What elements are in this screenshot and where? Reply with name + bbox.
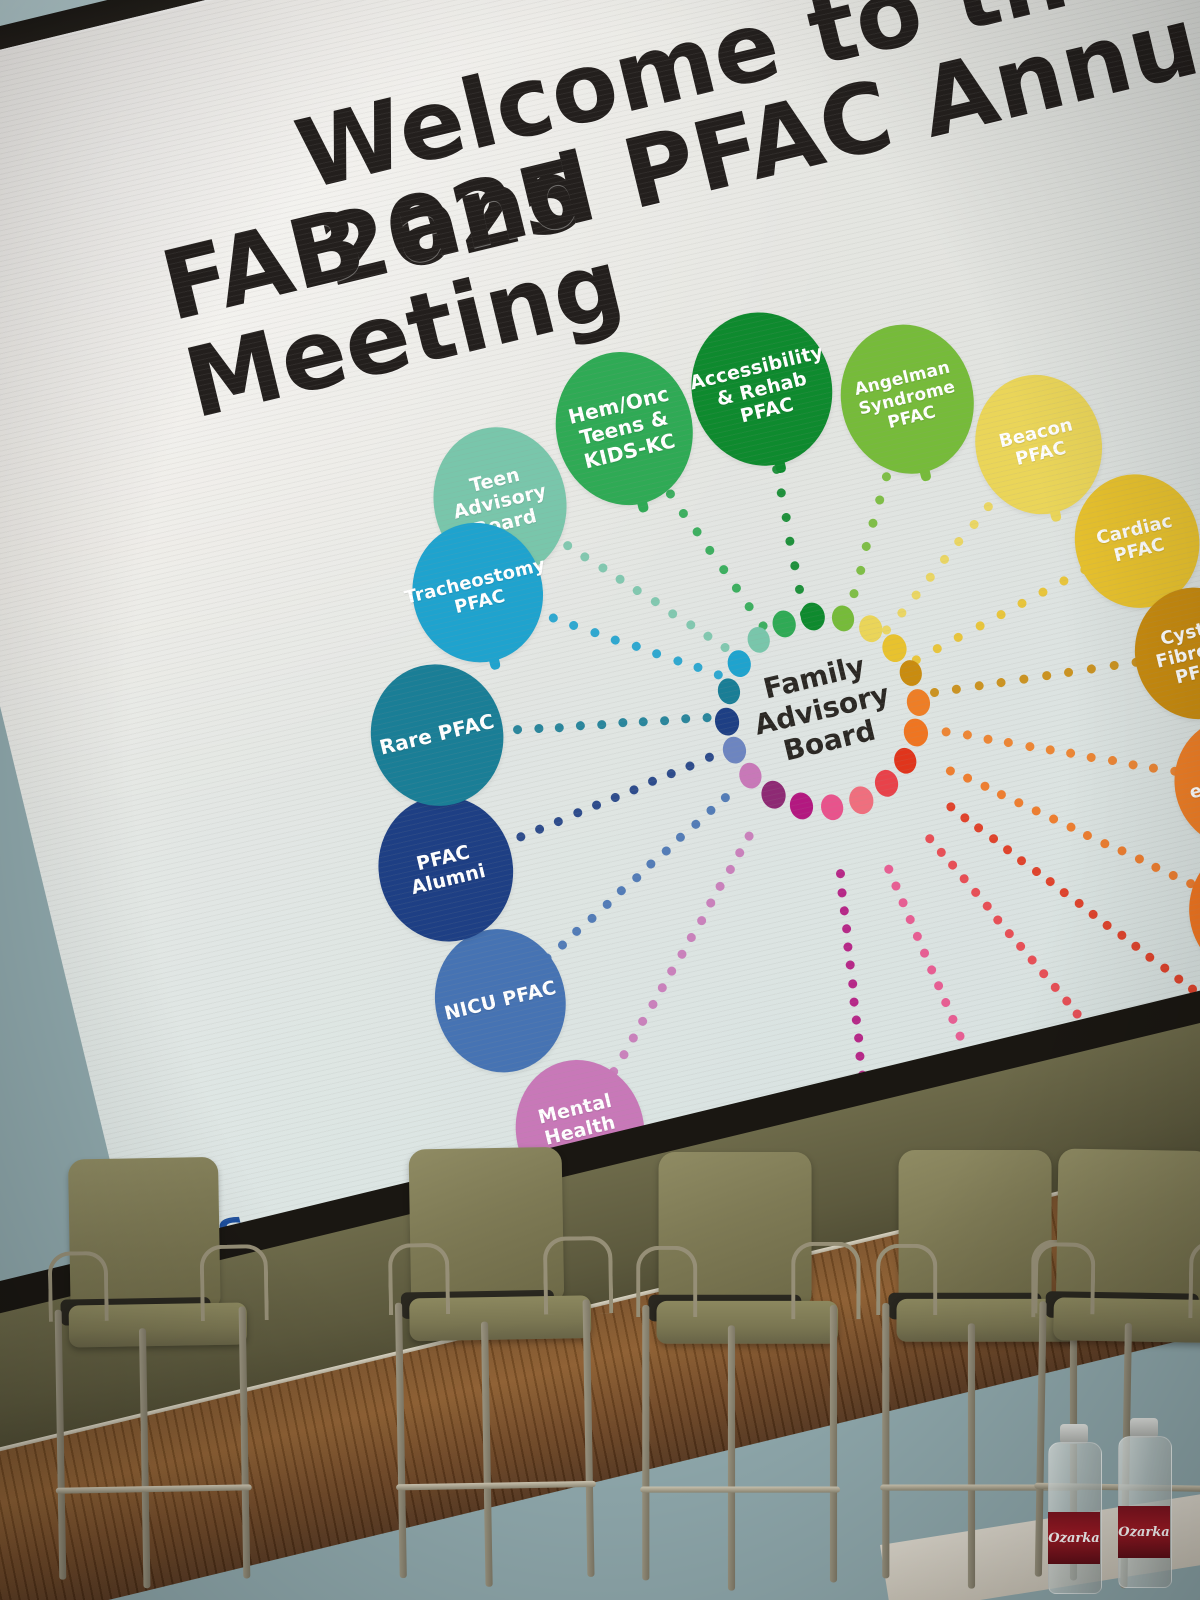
chair[interactable] [380,1146,622,1599]
council-bubble-label: PFAC Alumni [379,833,512,905]
connector-dot [705,898,716,909]
connector-dot [647,999,658,1010]
connector-dot [1145,952,1156,963]
connector-dot [962,773,973,784]
connector-dot [631,641,642,652]
connector-dot [575,720,586,731]
connector-dot [1130,941,1141,952]
connector-dot [610,634,621,645]
connector-dot [597,563,608,574]
chair-armrest-right [791,1242,860,1320]
connector-dot [676,948,687,959]
connector-dot [1058,575,1069,586]
connector-dot [1045,876,1056,887]
connector-dot [516,832,527,843]
connector-dot [731,583,742,594]
connector-dot [835,869,846,880]
connector-dot [638,716,649,727]
connector-dot [569,620,580,631]
balloon-tail-icon [919,468,932,482]
connector-dot [785,536,796,547]
connector-dot [951,684,962,695]
chair-leg [481,1322,493,1587]
council-bubble-label: Hem/Onc Teens & KIDS-KC [554,380,695,478]
connector-dot [1048,814,1059,825]
chair-leg [139,1328,151,1588]
connector-dot [685,619,696,630]
connector-dot [982,734,993,745]
connector-dot [534,824,545,835]
council-bubble[interactable]: Angelman Syndrome PFAC [825,311,989,488]
connector-dot [1030,866,1041,877]
council-bubble-label: Beacon PFAC [976,410,1101,478]
connector-dot [789,560,800,571]
connector-dot [1049,982,1060,993]
bottle-label: Ozarka [1048,1512,1100,1564]
connector-dot [557,939,568,950]
connector-dot [1086,752,1097,763]
council-bubble[interactable]: Rare PFAC [356,651,518,820]
council-bubble[interactable]: e-Council [1161,705,1200,861]
connector-dot [696,915,707,926]
connector-dot [678,508,689,519]
connector-dot [974,681,985,692]
chair-armrest-right [543,1236,614,1315]
connector-dot [1065,748,1076,759]
connector-dot [720,642,731,653]
connector-dot [947,860,958,871]
connector-dot [512,724,523,735]
connector-dot [1128,759,1139,770]
chair-leg [642,1305,649,1580]
connector-dot [661,845,672,856]
connector-dot [548,613,559,624]
council-bubble-label: Angelman Syndrome PFAC [840,356,974,443]
hub-ring-dot [770,608,799,640]
connector-dot [1061,995,1072,1006]
connector-dot [601,899,612,910]
conference-room-photo: Welcome to the 2025 FAB and PFAC Annual … [0,0,1200,1600]
connector-dot [1102,919,1113,930]
chair-leg [239,1306,251,1578]
connector-dot [932,643,943,654]
connector-dot [1108,660,1119,671]
connector-dot [646,859,657,870]
connector-dot [553,816,564,827]
connector-dot [579,551,590,562]
connector-dot [1019,674,1030,685]
council-bubble[interactable]: Eating Disorders Center PFAC [1176,833,1200,990]
connector-dot [794,584,805,595]
chair-leg [583,1299,595,1577]
council-bubble[interactable]: Accessibility & Rehab PFAC [676,298,848,481]
chair-leg [55,1310,67,1580]
connector-dot [945,801,956,812]
chair-leg [395,1303,407,1578]
connector-dot [912,931,923,942]
connector-dot [562,540,573,551]
connector-dot [631,872,642,883]
connector-dot [849,588,860,599]
connector-dot [685,760,696,771]
chair-armrest-right [200,1244,269,1321]
connector-dot [839,905,850,916]
connector-dot [715,881,726,892]
connector-dot [533,723,544,734]
connector-dot [959,874,970,885]
connector-dot [1168,870,1179,881]
connector-dot [1045,744,1056,755]
hub-ring-dot [798,600,828,633]
connector-dot [610,792,621,803]
bottle-cap [1060,1424,1088,1444]
connector-dot [874,495,885,506]
chair-foot-rail [396,1481,596,1491]
connector-dot [929,688,940,699]
chair-foot-rail [56,1484,252,1493]
connector-dot [853,1033,864,1044]
connector-dot [734,848,745,859]
connector-dot [1116,930,1127,941]
connector-dot [1016,598,1027,609]
connector-dot [1116,846,1127,857]
connector-dot [680,713,691,724]
connector-dot [1065,822,1076,833]
connector-dot [586,913,597,924]
connector-dot [650,597,661,608]
connector-dot [596,719,607,730]
connector-dot [925,572,936,583]
connector-dot [725,864,736,875]
connector-dot [616,886,627,897]
connector-dot [1038,968,1049,979]
connector-dot [941,726,952,737]
connector-dot [1031,805,1042,816]
connector-dot [1016,855,1027,866]
connector-dot [849,996,860,1007]
connector-dot [589,627,600,638]
connector-dot [615,574,626,585]
connector-dot [837,887,848,898]
connector-dot [1003,737,1014,748]
connector-dot [891,880,902,891]
chair-leg [968,1323,975,1588]
hub-ring-dot [787,790,816,822]
connector-dot [1014,797,1025,808]
connector-dot [657,982,668,993]
chair[interactable] [40,1156,278,1600]
connector-dot [651,648,662,659]
connector-dot [884,864,895,875]
connector-dot [868,518,879,529]
council-bubble-label: Accessibility & Rehab PFAC [688,341,836,437]
connector-dot [1082,830,1093,841]
connector-dot [720,792,731,803]
connector-dot [1002,844,1013,855]
connector-dot [968,519,979,530]
chair-leg [1035,1301,1047,1576]
hub-ring-dot [818,792,845,822]
connector-dot [861,541,872,552]
connector-dot [667,965,678,976]
connector-dot [1027,955,1038,966]
connector-dot [1004,928,1015,939]
connector-dot [973,823,984,834]
connector-dot [953,631,964,642]
connector-dot [996,677,1007,688]
connector-dot [855,565,866,576]
connector-dot [632,585,643,596]
connector-dot [924,833,935,844]
connector-dot [776,488,787,499]
connector-dot [572,926,583,937]
connector-dot [983,501,994,512]
council-bubble-label: NICU PFAC [442,977,558,1025]
connector-dot [690,819,701,830]
connector-dot [954,536,965,547]
connector-dot [898,897,909,908]
connector-dot [718,564,729,575]
connector-dot [896,607,907,618]
connector-dot [672,655,683,666]
connector-dot [988,833,999,844]
connector-dot [1086,664,1097,675]
balloon-tail-icon [1050,508,1063,522]
connector-dot [993,914,1004,925]
connector-dot [974,620,985,631]
connector-dot [996,789,1007,800]
connector-dot [881,471,892,482]
connector-dot [919,947,930,958]
connector-dot [936,847,947,858]
connector-dot [1037,586,1048,597]
connector-dot [855,1051,866,1062]
connector-dot [744,831,755,842]
connector-dot [851,1015,862,1026]
connector-dot [705,805,716,816]
council-bubble-label: Tracheostomy PFAC [403,555,553,629]
connector-dot [638,1016,649,1027]
connector-dot [847,978,858,989]
connector-dot [628,784,639,795]
connector-dot [693,662,704,673]
connector-dot [945,765,956,776]
hub-ring-dot [846,783,876,816]
connector-dot [1041,671,1052,682]
connector-dot [1015,941,1026,952]
chair-foot-rail [640,1487,840,1493]
connector-dot [926,964,937,975]
chair-leg [830,1305,837,1582]
connector-dot [995,609,1006,620]
connector-dot [591,800,602,811]
connector-dot [618,1049,629,1060]
connector-dot [939,554,950,565]
connector-dot [666,768,677,779]
council-bubble-label: Cystic Fibrosis PFAC [1133,610,1200,698]
connector-dot [845,960,856,971]
connector-dot [667,608,678,619]
connector-dot [933,981,944,992]
chair-leg [882,1303,889,1578]
connector-dot [617,718,628,729]
connector-dot [628,1033,639,1044]
connector-dot [704,752,715,763]
council-bubble-label: Rare PFAC [377,710,496,760]
council-bubble-label: e-Council [1188,761,1200,804]
council-bubble-label: Cardiac PFAC [1076,507,1199,575]
connector-dot [1159,962,1170,973]
connector-dot [691,526,702,537]
connector-dot [572,808,583,819]
balloon-tail-icon [637,499,650,513]
connector-dot [702,631,713,642]
chair[interactable] [630,1152,865,1600]
connector-dot [686,932,697,943]
connector-dot [1059,887,1070,898]
connector-dot [940,998,951,1009]
connector-dot [744,601,755,612]
connector-dot [905,914,916,925]
connector-dot [780,512,791,523]
connector-dot [962,730,973,741]
connector-dot [675,832,686,843]
connector-dot [701,712,712,723]
connector-dot [841,923,852,934]
connector-dot [981,901,992,912]
connector-dot [947,1014,958,1025]
connector-dot [1024,741,1035,752]
connector-dot [1063,667,1074,678]
connector-dot [1099,838,1110,849]
connector-dot [1173,973,1184,984]
connector-dot [910,590,921,601]
balloon-tail-icon [489,657,502,671]
connector-dot [979,781,990,792]
connector-dot [1107,755,1118,766]
connector-dot [1134,854,1145,865]
bottle-label: Ozarka [1118,1506,1170,1558]
bottle-cap [1130,1418,1158,1438]
connector-dot [1151,862,1162,873]
connector-dot [1087,909,1098,920]
connector-dot [954,1031,965,1042]
connector-dot [970,887,981,898]
connector-dot [1148,763,1159,774]
connector-dot [1073,898,1084,909]
connector-dot [647,776,658,787]
connector-dot [659,715,670,726]
connector-dot [554,722,565,733]
chair-leg [728,1325,735,1590]
connector-dot [704,545,715,556]
connector-dot [843,942,854,953]
connector-dot [959,812,970,823]
